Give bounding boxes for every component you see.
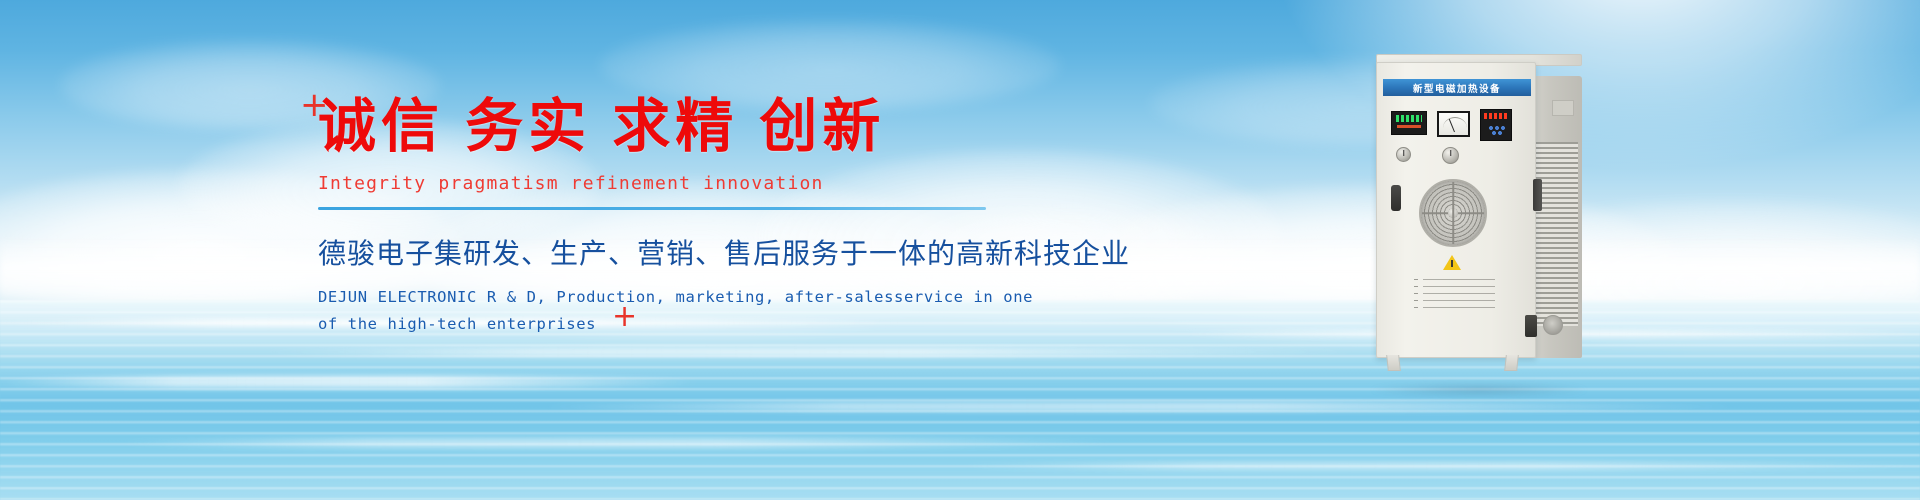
banner-copy: 诚信 务实 求精 创新 Integrity pragmatism refinem… [318, 96, 1018, 338]
product-label: 新型电磁加热设备 [1383, 79, 1531, 96]
subtitle-english-line-1: DEJUN ELECTRONIC R & D, Production, mark… [318, 284, 1018, 311]
fan-grille-icon [1419, 179, 1487, 247]
water-streak [260, 348, 1360, 356]
hero-banner: + + 诚信 务实 求精 创新 Integrity pragmatism ref… [0, 0, 1920, 500]
ventilation-louvers-icon [1532, 142, 1578, 326]
headline-chinese: 诚信 务实 求精 创新 [318, 96, 1018, 159]
digital-meter-icon [1391, 111, 1427, 135]
lower-fan-icon [1543, 315, 1563, 335]
divider-rule [318, 207, 986, 210]
subtitle-chinese: 德骏电子集研发、生产、营销、售后服务于一体的高新科技企业 [318, 232, 1018, 272]
product-leg [1386, 355, 1401, 371]
product-shadow [1370, 382, 1588, 398]
keypad-icon [1480, 109, 1512, 141]
water-streak [540, 402, 1740, 411]
product-image: 新型电磁加热设备 [1376, 62, 1582, 372]
water-streak [960, 462, 1920, 470]
product-front-panel: 新型电磁加热设备 [1376, 62, 1536, 358]
spec-plate [1423, 279, 1495, 313]
control-knob-icon [1396, 147, 1411, 162]
product-label-text: 新型电磁加热设备 [1413, 81, 1501, 95]
side-cap [1552, 100, 1574, 116]
analog-gauge-icon [1437, 111, 1470, 137]
subtitle-english-line-2: of the high-tech enterprises [318, 311, 1018, 338]
headline-english: Integrity pragmatism refinement innovati… [318, 173, 1018, 194]
connector-port-icon [1391, 185, 1401, 211]
water-streak [120, 438, 1120, 448]
door-handle-icon [1533, 179, 1542, 211]
lower-port-icon [1525, 315, 1537, 337]
product-leg [1504, 355, 1519, 371]
water-streak [0, 376, 700, 388]
warning-triangle-icon [1443, 255, 1461, 270]
control-knob-icon [1442, 147, 1459, 164]
